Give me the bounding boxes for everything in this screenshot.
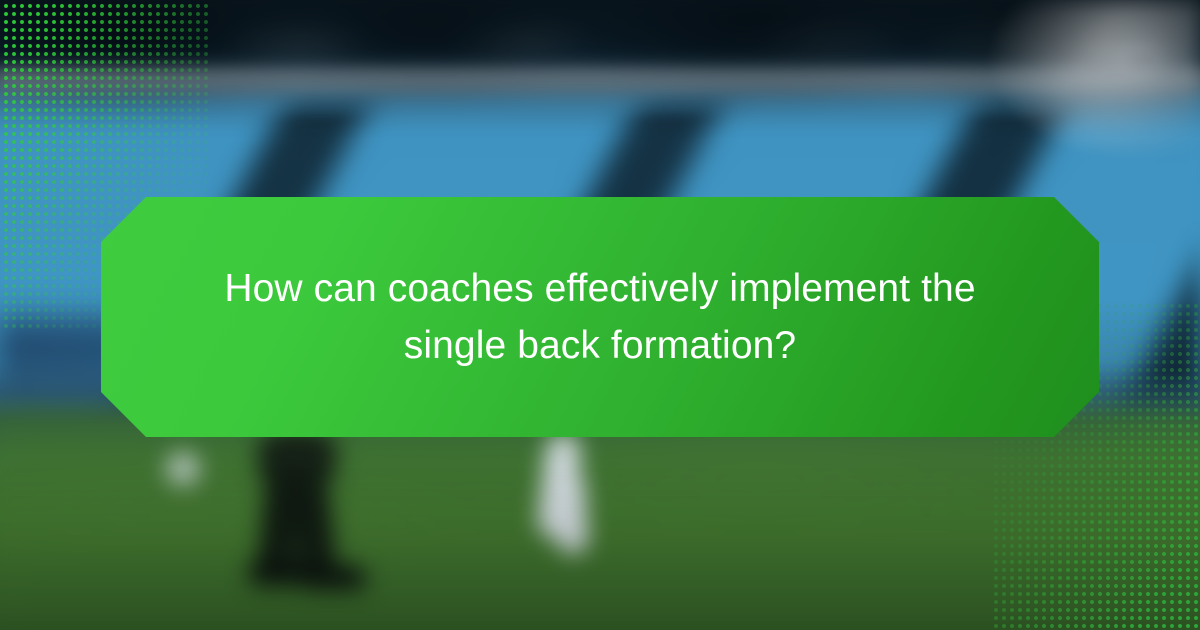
screenshot-canvas: How can coaches effectively implement th… [0, 0, 1200, 630]
question-title: How can coaches effectively implement th… [220, 260, 980, 374]
question-card: How can coaches effectively implement th… [101, 197, 1099, 437]
